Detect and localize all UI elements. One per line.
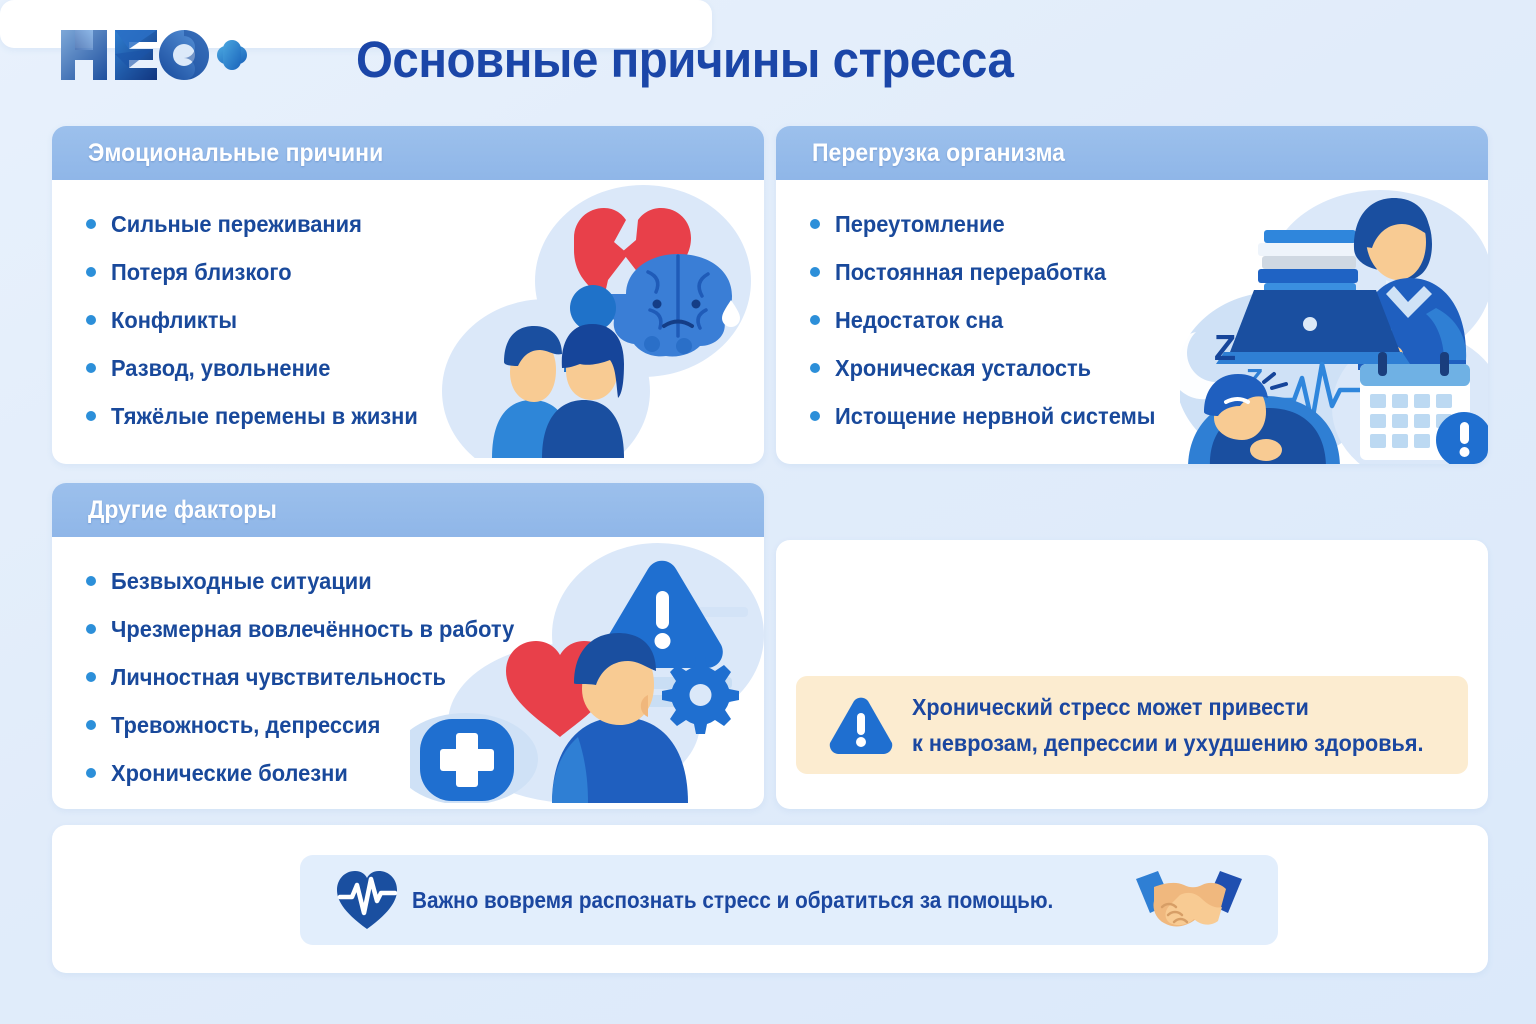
bullet-dot-icon (810, 267, 820, 277)
list-item: Истощение нервной системы (810, 398, 1468, 434)
bullet-dot-icon (86, 267, 96, 277)
card-body-overload-content: Z Z (776, 180, 1488, 464)
card-warning: Хронический стресс может привести к невр… (776, 540, 1488, 809)
bullet-label: Постоянная переработка (835, 259, 1106, 286)
card-body-other: Безвыходные ситуации Чрезмерная вовлечён… (52, 537, 764, 809)
bullet-label: Личностная чувствительность (111, 664, 446, 691)
list-item: Недостаток сна (810, 302, 1468, 338)
bullet-dot-icon (86, 219, 96, 229)
bullet-list-emotional: Сильные переживания Потеря близкого Конф… (86, 206, 744, 434)
card-title-emotional: Эмоциональные причини (88, 139, 383, 168)
card-header-other: Другие факторы (52, 483, 764, 537)
card-other-factors: Другие факторы (52, 483, 764, 809)
bullet-dot-icon (810, 363, 820, 373)
brand-logo (57, 24, 247, 86)
heart-pulse-icon (334, 867, 400, 933)
card-title-overload: Перегрузка организма (812, 139, 1065, 168)
bullet-label: Потеря близкого (111, 259, 292, 286)
list-item: Безвыходные ситуации (86, 563, 744, 599)
page-header: Основные причины стресса (0, 0, 1536, 112)
page-title: Основные причины стресса (356, 25, 1100, 95)
list-item: Развод, увольнение (86, 350, 744, 386)
bullet-label: Чрезмерная вовлечённость в работу (111, 616, 514, 643)
list-item: Личностная чувствительность (86, 659, 744, 695)
bullet-label: Недостаток сна (835, 307, 1003, 334)
list-item: Тяжёлые перемены в жизни (86, 398, 744, 434)
neo-plus-logo-icon (57, 24, 247, 86)
list-item: Хронические болезни (86, 755, 744, 791)
bullet-dot-icon (86, 576, 96, 586)
card-title-other: Другие факторы (88, 496, 277, 525)
card-header-overload: Перегрузка организма (776, 126, 1488, 180)
bullet-list-overload: Переутомление Постоянная переработка Нед… (810, 206, 1468, 434)
bullet-dot-icon (86, 315, 96, 325)
warning-text-block: Хронический стресс может привести к невр… (912, 689, 1456, 761)
bullet-dot-icon (86, 768, 96, 778)
bullet-label: Развод, увольнение (111, 355, 330, 382)
bullet-label: Безвыходные ситуации (111, 568, 372, 595)
card-footer: Важно вовремя распознать стресс и обрати… (52, 825, 1488, 973)
list-item: Сильные переживания (86, 206, 744, 242)
list-item: Потеря близкого (86, 254, 744, 290)
bullet-label: Хронические болезни (111, 760, 348, 787)
card-body-overload: Перегрузка организма (776, 126, 1488, 464)
card-body-emotional: Сильные переживания Потеря близкого Конф… (52, 180, 764, 464)
bullet-label: Тяжёлые перемены в жизни (111, 403, 418, 430)
list-item: Постоянная переработка (810, 254, 1468, 290)
bullet-dot-icon (810, 411, 820, 421)
card-emotional-causes: Эмоциональные причини (52, 126, 764, 464)
footer-message: Важно вовремя распознать стресс и обрати… (412, 887, 1053, 914)
bullet-dot-icon (810, 315, 820, 325)
warning-line-2: к неврозам, депрессии и ухудшению здоров… (912, 725, 1423, 761)
list-item: Переутомление (810, 206, 1468, 242)
bullet-dot-icon (810, 219, 820, 229)
warning-callout: Хронический стресс может привести к невр… (796, 676, 1468, 774)
list-item: Конфликты (86, 302, 744, 338)
bullet-label: Истощение нервной системы (835, 403, 1155, 430)
bullet-label: Хроническая усталость (835, 355, 1091, 382)
warning-line-1: Хронический стресс может привести (912, 689, 1423, 725)
bullet-dot-icon (86, 672, 96, 682)
list-item: Хроническая усталость (810, 350, 1468, 386)
bullet-label: Сильные переживания (111, 211, 362, 238)
bullet-list-other: Безвыходные ситуации Чрезмерная вовлечён… (86, 563, 744, 791)
footer-banner: Важно вовремя распознать стресс и обрати… (300, 855, 1278, 945)
card-header-emotional: Эмоциональные причини (52, 126, 764, 180)
list-item: Чрезмерная вовлечённость в работу (86, 611, 744, 647)
warning-triangle-icon (828, 695, 894, 755)
bullet-label: Переутомление (835, 211, 1005, 238)
bullet-dot-icon (86, 363, 96, 373)
handshake-icon (1134, 867, 1244, 933)
list-item: Тревожность, депрессия (86, 707, 744, 743)
bullet-dot-icon (86, 624, 96, 634)
bullet-dot-icon (86, 720, 96, 730)
bullet-label: Конфликты (111, 307, 237, 334)
bullet-dot-icon (86, 411, 96, 421)
bullet-label: Тревожность, депрессия (111, 712, 380, 739)
